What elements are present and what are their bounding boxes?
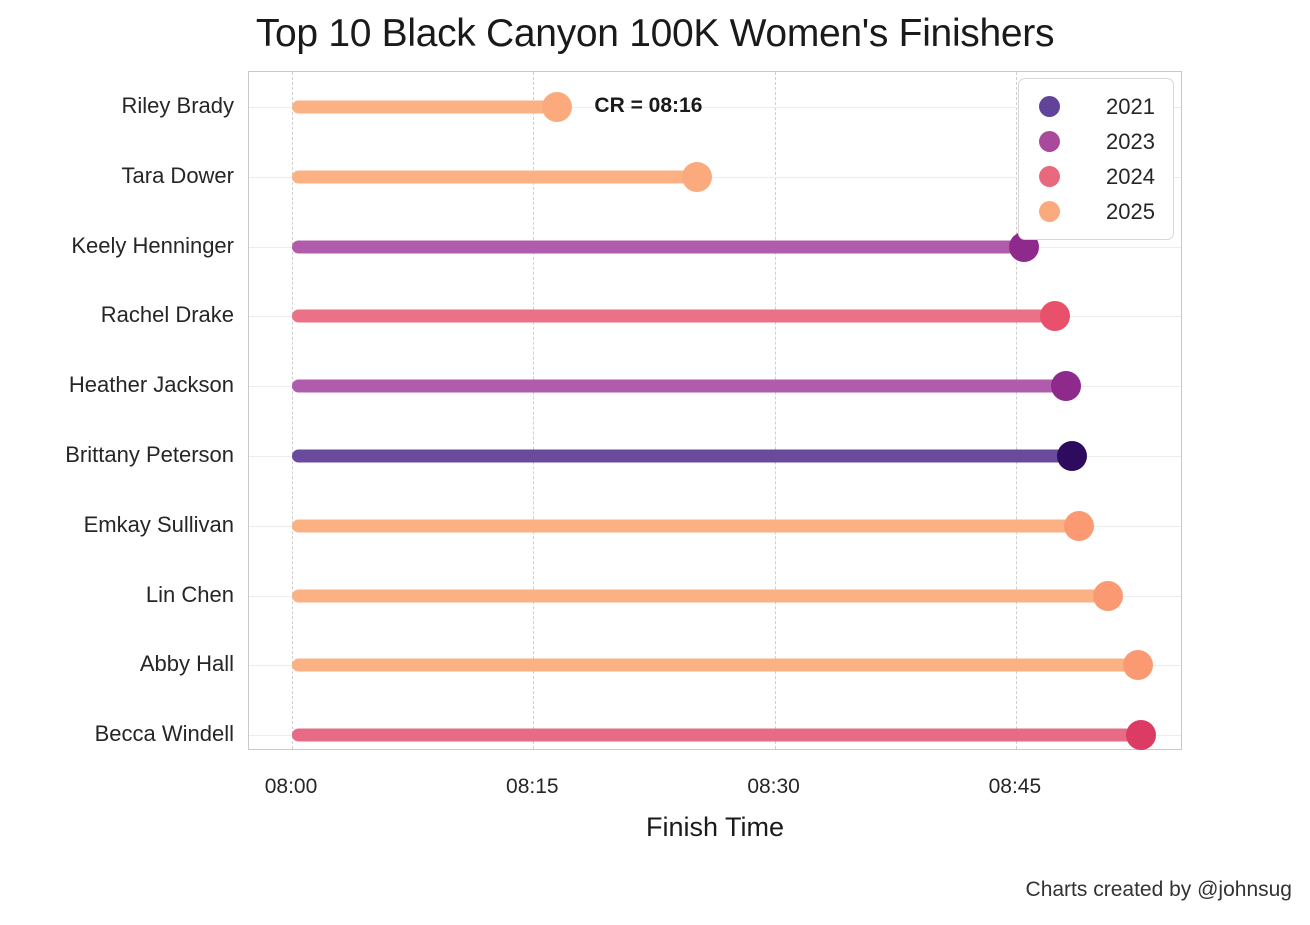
legend-item-2025[interactable]: 2025 [1031, 194, 1159, 229]
legend-item-2023[interactable]: 2023 [1031, 124, 1159, 159]
course-record-annotation: CR = 08:16 [594, 94, 702, 118]
y-tick-label-rachel-drake: Rachel Drake [101, 302, 234, 328]
y-tick-label-heather-jackson: Heather Jackson [69, 372, 234, 398]
lollipop-stem [292, 101, 557, 114]
lollipop-stem [292, 589, 1108, 602]
legend-item-2021[interactable]: 2021 [1031, 89, 1159, 124]
y-tick-label-riley-brady: Riley Brady [122, 93, 234, 119]
footer-credit: Charts created by @johnsug [1026, 878, 1292, 902]
lollipop-stem [292, 450, 1072, 463]
legend-item-label: 2025 [1060, 199, 1159, 225]
y-tick-label-keely-henninger: Keely Henninger [71, 233, 234, 259]
lollipop-stem [292, 729, 1141, 742]
legend-swatch-icon [1039, 166, 1060, 187]
x-tick-label-08-15: 08:15 [506, 775, 559, 799]
lollipop-stem [292, 519, 1079, 532]
lollipop-stem [292, 170, 697, 183]
lollipop-marker[interactable] [1123, 650, 1153, 680]
lollipop-stem [292, 659, 1138, 672]
y-tick-label-becca-windell: Becca Windell [95, 721, 234, 747]
x-axis-label: Finish Time [248, 812, 1182, 843]
gridline-x-08:45 [1016, 72, 1017, 749]
lollipop-marker[interactable] [1126, 720, 1156, 750]
y-tick-label-emkay-sullivan: Emkay Sullivan [84, 512, 234, 538]
legend-swatch-icon [1039, 201, 1060, 222]
lollipop-marker[interactable] [1057, 441, 1087, 471]
legend-item-label: 2024 [1060, 164, 1159, 190]
lollipop-marker[interactable] [682, 162, 712, 192]
legend-swatch-icon [1039, 131, 1060, 152]
lollipop-stem [292, 240, 1024, 253]
lollipop-marker[interactable] [1093, 581, 1123, 611]
x-tick-label-08-30: 08:30 [747, 775, 800, 799]
y-tick-label-abby-hall: Abby Hall [140, 651, 234, 677]
y-tick-label-tara-dower: Tara Dower [122, 163, 234, 189]
x-tick-label-08-45: 08:45 [989, 775, 1042, 799]
lollipop-stem [292, 380, 1066, 393]
lollipop-marker[interactable] [1040, 301, 1070, 331]
chart-figure: Top 10 Black Canyon 100K Women's Finishe… [0, 0, 1310, 925]
lollipop-marker[interactable] [1064, 511, 1094, 541]
gridline-x-08:30 [775, 72, 776, 749]
legend: 2021202320242025 [1018, 78, 1174, 240]
legend-item-2024[interactable]: 2024 [1031, 159, 1159, 194]
legend-item-label: 2023 [1060, 129, 1159, 155]
lollipop-marker[interactable] [1051, 371, 1081, 401]
y-tick-label-brittany-peterson: Brittany Peterson [65, 442, 234, 468]
y-tick-label-lin-chen: Lin Chen [146, 582, 234, 608]
x-tick-label-08-00: 08:00 [265, 775, 318, 799]
page-title: Top 10 Black Canyon 100K Women's Finishe… [0, 12, 1310, 56]
lollipop-marker[interactable] [542, 92, 572, 122]
lollipop-stem [292, 310, 1055, 323]
legend-swatch-icon [1039, 96, 1060, 117]
legend-item-label: 2021 [1060, 94, 1159, 120]
